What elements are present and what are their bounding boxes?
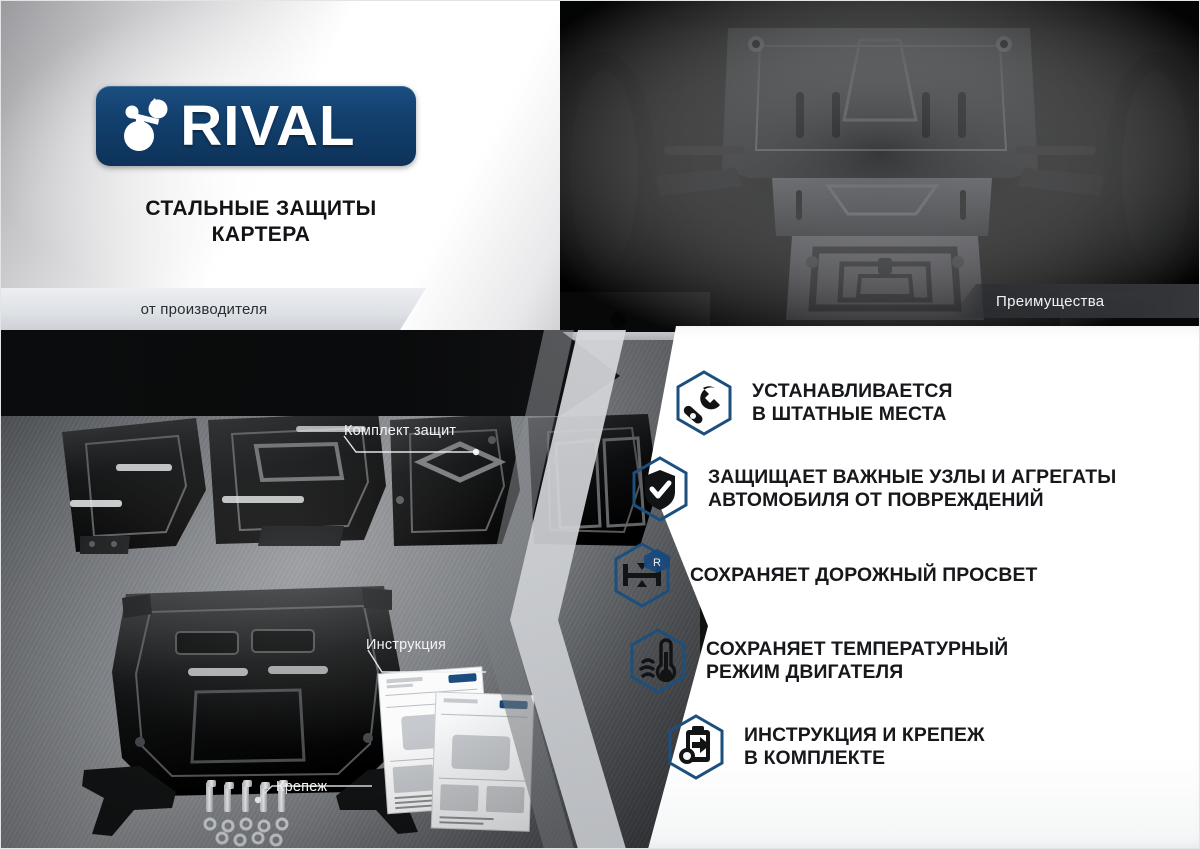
mini-rival-hex-icon: R [642, 548, 672, 574]
benefit-item-temperature: СОХРАНЯЕТ ТЕМПЕРАТУРНЫЙ РЕЖИМ ДВИГАТЕЛЯ [628, 628, 1192, 694]
page-title: СТАЛЬНЫЕ ЗАЩИТЫ КАРТЕРА [96, 196, 426, 248]
wrench-hex-icon [674, 370, 734, 436]
subtitle-text: от производителя [141, 301, 286, 318]
callout-protection-set: Комплект защит [344, 423, 456, 439]
benefit-item-kit: ИНСТРУКЦИЯ И КРЕПЕЖ В КОМПЛЕКТЕ [666, 714, 1192, 780]
thermometer-hex-icon [628, 628, 688, 694]
advantages-label: Преимущества [996, 293, 1104, 310]
advantages-label-band: Преимущества [950, 284, 1200, 318]
callout-fasteners: Крепеж [276, 779, 327, 795]
svg-text:R: R [653, 557, 661, 569]
shield-check-hex-icon [630, 456, 690, 522]
benefit-item-installation: УСТАНАВЛИВАЕТСЯ В ШТАТНЫЕ МЕСТА [674, 370, 1192, 436]
poster-canvas: RIVAL СТАЛЬНЫЕ ЗАЩИТЫ КАРТЕРА от произво… [0, 0, 1200, 849]
benefit-item-clearance: СОХРАНЯЕТ ДОРОЖНЫЙ ПРОСВЕТ [612, 542, 1192, 608]
benefit-text-temperature: СОХРАНЯЕТ ТЕМПЕРАТУРНЫЙ РЕЖИМ ДВИГАТЕЛЯ [706, 638, 1008, 684]
headline-line-1: СТАЛЬНЫЕ ЗАЩИТЫ [96, 196, 426, 222]
benefit-item-protection: ЗАЩИЩАЕТ ВАЖНЫЕ УЗЛЫ И АГРЕГАТЫ АВТОМОБИ… [630, 456, 1192, 522]
subtitle-band: от производителя [0, 288, 426, 330]
clipboard-bolt-hex-icon [666, 714, 726, 780]
brand-wordmark: RIVAL [180, 98, 355, 155]
benefit-text-kit: ИНСТРУКЦИЯ И КРЕПЕЖ В КОМПЛЕКТЕ [744, 724, 985, 770]
callout-instruction: Инструкция [366, 637, 446, 653]
benefit-text-clearance: СОХРАНЯЕТ ДОРОЖНЫЙ ПРОСВЕТ [690, 564, 1037, 587]
headline-line-2: КАРТЕРА [96, 222, 426, 248]
benefits-list: УСТАНАВЛИВАЕТСЯ В ШТАТНЫЕ МЕСТА ЗАЩИЩАЕТ… [612, 370, 1192, 800]
rival-molecule-icon [112, 97, 174, 155]
benefit-text-protection: ЗАЩИЩАЕТ ВАЖНЫЕ УЗЛЫ И АГРЕГАТЫ АВТОМОБИ… [708, 466, 1116, 512]
benefit-text-installation: УСТАНАВЛИВАЕТСЯ В ШТАТНЫЕ МЕСТА [752, 380, 953, 426]
brand-logo: RIVAL [96, 86, 416, 166]
